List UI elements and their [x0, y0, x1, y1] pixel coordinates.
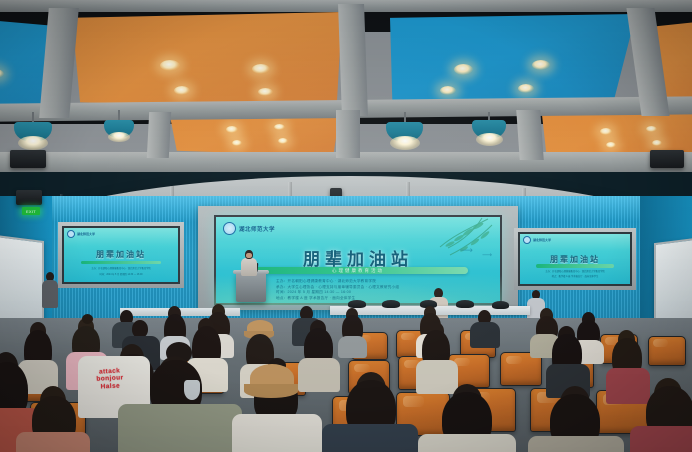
side-screen-details: 主办：开名朝阳心理健康教育中心 · 湖北师范大学教育学院 [518, 271, 632, 275]
side-screen-title: 朋辈加油站 [62, 249, 180, 260]
desk-item [382, 300, 400, 308]
ceiling [0, 0, 692, 172]
presenter-face [246, 253, 252, 258]
presentation-details: 主办：开名朝阳心理健康教育中心 · 湖北师范大学教育学院 承办：大学生心理协会 … [276, 279, 451, 301]
desk-item [456, 300, 474, 308]
university-name: 湖北师范大学 [77, 232, 95, 236]
ceiling-panel-blue [390, 14, 636, 110]
university-seal-icon [523, 236, 531, 244]
desk-item [492, 301, 509, 309]
desk-item [348, 300, 366, 308]
presenter-body [241, 258, 257, 276]
side-screen-accent-bar [536, 264, 614, 268]
ceiling-speaker [10, 150, 46, 168]
lecture-hall-photo: EXIT 湖北师范大学 朋辈加油站 [0, 0, 692, 452]
chair [648, 336, 684, 364]
university-name: 湖北师范大学 [533, 238, 551, 242]
hoodie-graphic-text: attack bonjour Halse [85, 367, 134, 392]
university-seal-icon [223, 222, 236, 235]
left-side-screen: 湖北师范大学 朋辈加油站 主办：开名朝阳心理健康教育中心 · 湖北师范大学教育学… [62, 226, 180, 284]
university-name: 湖北师范大学 [239, 225, 275, 233]
swoosh-arrow-icon: ⟶ [482, 251, 492, 259]
side-screen-details: 地点：教学楼 A 座 学术报告厅 · 面向全体学生 [518, 276, 632, 280]
side-screen-details: 时间：2024 年 5 月 星期四 14:30 — 16:00 [62, 274, 180, 278]
side-screen-details: 主办：开名朝阳心理健康教育中心 · 湖北师范大学教育学院 [62, 268, 180, 272]
university-logo: 湖北师范大学 [523, 236, 551, 244]
side-screen-title: 朋辈加油站 [518, 254, 632, 265]
right-side-screen: 湖北师范大学 朋辈加油站 主办：开名朝阳心理健康教育中心 · 湖北师范大学教育学… [518, 232, 632, 286]
ceiling-speaker [650, 150, 684, 168]
side-screen-accent-bar [81, 261, 161, 265]
university-logo: 湖北师范大学 [223, 222, 275, 235]
university-logo: 湖北师范大学 [67, 230, 95, 238]
ceiling-panel-orange [72, 12, 342, 108]
podium [236, 272, 266, 302]
swoosh-arrow-icon: ⟶ [460, 245, 473, 256]
exit-sign: EXIT [22, 207, 40, 215]
exit-sign-label: EXIT [26, 209, 36, 214]
university-seal-icon [67, 230, 75, 238]
wall-speaker [16, 190, 42, 205]
